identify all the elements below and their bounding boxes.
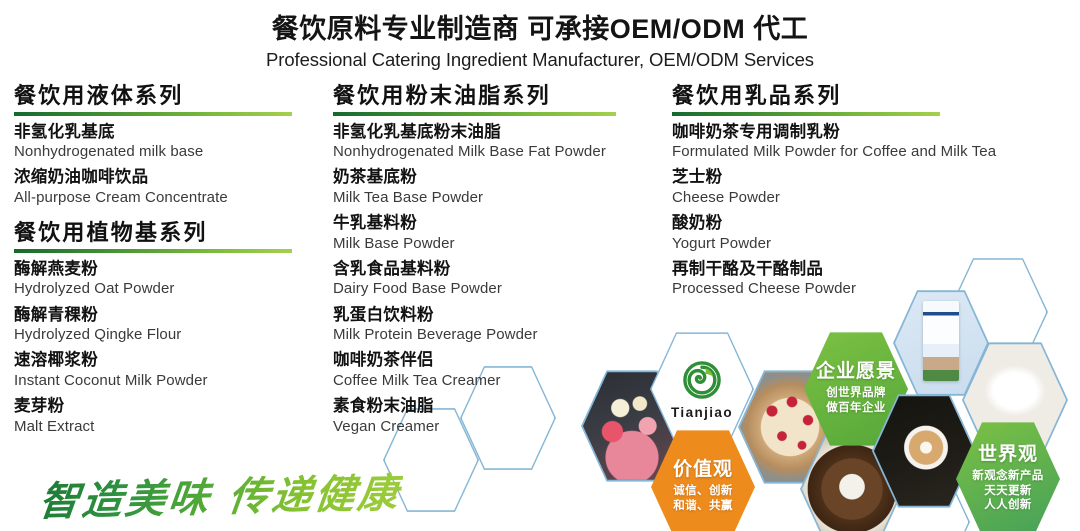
product-item: 奶茶基底粉 Milk Tea Base Powder [333, 168, 655, 207]
product-name-en: Instant Coconut Milk Powder [14, 372, 314, 390]
value-hexagon-worldview-line-2: 天天更新 [972, 484, 1043, 499]
product-name-cn: 非氢化乳基底 [14, 123, 314, 142]
group-title-fat-powder: 餐饮用粉末油脂系列 [333, 84, 655, 109]
product-item: 咖啡奶茶伴侣 Coffee Milk Tea Creamer [333, 351, 655, 390]
product-name-en: Nonhydrogenated milk base [14, 143, 314, 161]
product-name-en: Milk Base Powder [333, 235, 655, 253]
brand-tagline: 智造美味 传递健康 [36, 461, 405, 528]
product-item: 乳蛋白饮料粉 Milk Protein Beverage Powder [333, 306, 655, 345]
group-title-liquid: 餐饮用液体系列 [14, 84, 314, 109]
product-name-en: Formulated Milk Powder for Coffee and Mi… [672, 143, 1072, 161]
product-name-en: Malt Extract [14, 418, 314, 436]
product-name-en: Nonhydrogenated Milk Base Fat Powder [333, 143, 655, 161]
product-group-dairy: 餐饮用乳品系列 咖啡奶茶专用调制乳粉 Formulated Milk Powde… [672, 84, 1072, 299]
group-underline [333, 112, 616, 116]
product-name-en: Milk Protein Beverage Powder [333, 326, 655, 344]
product-item: 酸奶粉 Yogurt Powder [672, 214, 1072, 253]
product-name-en: Hydrolyzed Oat Powder [14, 280, 314, 298]
product-item: 速溶椰浆粉 Instant Coconut Milk Powder [14, 351, 314, 390]
product-item: 含乳食品基料粉 Dairy Food Base Powder [333, 260, 655, 299]
group-title-dairy: 餐饮用乳品系列 [672, 84, 1072, 109]
product-name-cn: 速溶椰浆粉 [14, 351, 314, 370]
product-name-cn: 再制干酪及干酪制品 [672, 260, 1072, 279]
header-title-cn: 餐饮原料专业制造商 可承接OEM/ODM 代工 [0, 14, 1080, 46]
product-item: 浓缩奶油咖啡饮品 All-purpose Cream Concentrate [14, 168, 314, 207]
product-name-en: Yogurt Powder [672, 235, 1072, 253]
product-name-en: Hydrolyzed Qingke Flour [14, 326, 314, 344]
value-hexagon-values-line-1: 诚信、创新 [673, 484, 733, 499]
product-name-cn: 酶解青稞粉 [14, 306, 314, 325]
product-name-en: Processed Cheese Powder [672, 280, 1072, 298]
product-name-cn: 非氢化乳基底粉末油脂 [333, 123, 655, 142]
product-name-cn: 咖啡奶茶伴侣 [333, 351, 655, 370]
product-name-en: Cheese Powder [672, 189, 1072, 207]
product-name-cn: 麦芽粉 [14, 397, 314, 416]
product-name-cn: 浓缩奶油咖啡饮品 [14, 168, 314, 187]
product-item: 芝士粉 Cheese Powder [672, 168, 1072, 207]
product-column-liquid: 餐饮用液体系列 非氢化乳基底 Nonhydrogenated milk base… [14, 84, 314, 436]
product-name-en: Vegan Creamer [333, 418, 655, 436]
product-name-en: All-purpose Cream Concentrate [14, 189, 314, 207]
product-item: 非氢化乳基底 Nonhydrogenated milk base [14, 123, 314, 162]
product-name-cn: 奶茶基底粉 [333, 168, 655, 187]
product-column-fat-powder: 餐饮用粉末油脂系列 非氢化乳基底粉末油脂 Nonhydrogenated Mil… [333, 84, 655, 436]
product-item: 再制干酪及干酪制品 Processed Cheese Powder [672, 260, 1072, 299]
product-item: 麦芽粉 Malt Extract [14, 397, 314, 436]
product-group-plant-based: 餐饮用植物基系列 酶解燕麦粉 Hydrolyzed Oat Powder 酶解青… [14, 221, 314, 436]
product-name-cn: 酶解燕麦粉 [14, 260, 314, 279]
product-name-en: Coffee Milk Tea Creamer [333, 372, 655, 390]
product-group-fat-powder: 餐饮用粉末油脂系列 非氢化乳基底粉末油脂 Nonhydrogenated Mil… [333, 84, 655, 436]
group-underline [672, 112, 940, 116]
product-name-en: Dairy Food Base Powder [333, 280, 655, 298]
value-hexagon-worldview-line-3: 人人创新 [972, 498, 1043, 513]
product-name-cn: 酸奶粉 [672, 214, 1072, 233]
product-item: 牛乳基料粉 Milk Base Powder [333, 214, 655, 253]
product-name-cn: 素食粉末油脂 [333, 397, 655, 416]
product-item: 咖啡奶茶专用调制乳粉 Formulated Milk Powder for Co… [672, 123, 1072, 162]
product-column-dairy: 餐饮用乳品系列 咖啡奶茶专用调制乳粉 Formulated Milk Powde… [672, 84, 1072, 299]
group-underline [14, 249, 292, 253]
product-columns: 餐饮用液体系列 非氢化乳基底 Nonhydrogenated milk base… [0, 84, 1080, 484]
product-name-cn: 咖啡奶茶专用调制乳粉 [672, 123, 1072, 142]
product-name-cn: 牛乳基料粉 [333, 214, 655, 233]
product-item: 酶解青稞粉 Hydrolyzed Qingke Flour [14, 306, 314, 345]
product-name-cn: 乳蛋白饮料粉 [333, 306, 655, 325]
product-item: 酶解燕麦粉 Hydrolyzed Oat Powder [14, 260, 314, 299]
product-name-cn: 芝士粉 [672, 168, 1072, 187]
header-title-en: Professional Catering Ingredient Manufac… [0, 48, 1080, 72]
poster-header: 餐饮原料专业制造商 可承接OEM/ODM 代工 Professional Cat… [0, 14, 1080, 72]
product-name-cn: 含乳食品基料粉 [333, 260, 655, 279]
product-item: 非氢化乳基底粉末油脂 Nonhydrogenated Milk Base Fat… [333, 123, 655, 162]
value-hexagon-values-line-2: 和谐、共赢 [673, 499, 733, 514]
group-title-plant-based: 餐饮用植物基系列 [14, 221, 314, 246]
poster-canvas: Tianjiao 价值观 诚信、创新 和谐、共赢 企业愿景 创世界品牌 做百年企… [0, 0, 1080, 531]
product-name-en: Milk Tea Base Powder [333, 189, 655, 207]
product-group-liquid: 餐饮用液体系列 非氢化乳基底 Nonhydrogenated milk base… [14, 84, 314, 207]
group-underline [14, 112, 292, 116]
product-item: 素食粉末油脂 Vegan Creamer [333, 397, 655, 436]
